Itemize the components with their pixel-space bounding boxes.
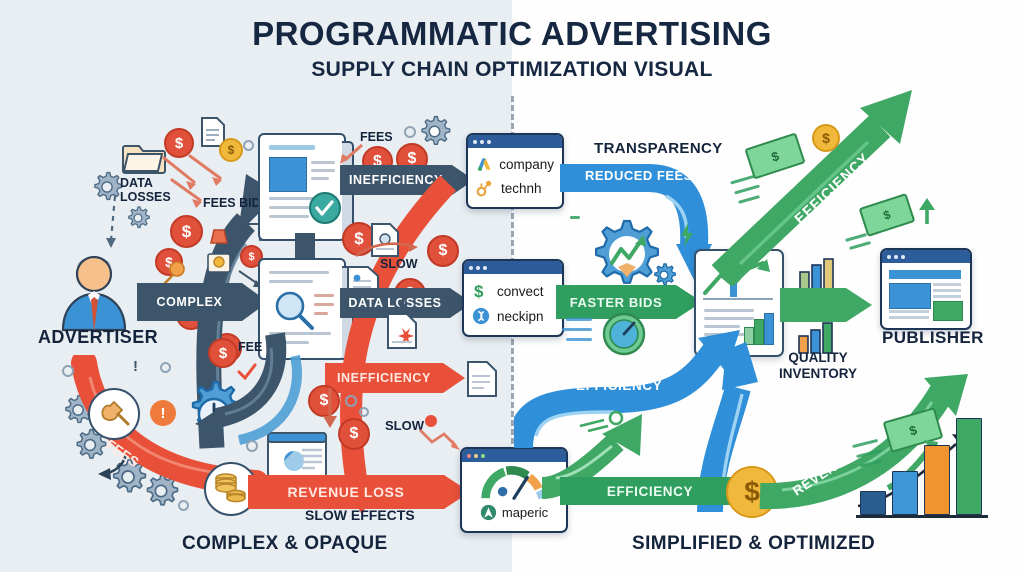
decorative-dot xyxy=(345,395,357,407)
decorative-dot xyxy=(62,365,74,377)
arrow-efficiency-bottom-label: EFFICIENCY xyxy=(607,484,693,499)
fee-coin-icon: $ xyxy=(427,235,459,267)
label-reduced-fees: REDUCED FEES xyxy=(585,168,693,183)
arrow-small-icon xyxy=(396,296,410,314)
platform-name: maperic xyxy=(502,505,548,520)
ads-logo-icon xyxy=(476,155,492,173)
window-dot xyxy=(469,266,473,270)
arrow-inefficiency-red: INEFFICIENCY xyxy=(325,363,465,393)
decorative-dot xyxy=(404,126,416,138)
decorative-dot xyxy=(246,440,258,452)
fee-coin-icon: $ xyxy=(338,418,370,450)
dot-trail-icon xyxy=(578,410,624,432)
label-slow-effects: SLOW EFFECTS xyxy=(305,507,415,523)
arrow-complex-label: COMPLEX xyxy=(156,295,222,309)
svg-text:$: $ xyxy=(474,282,484,301)
window-dot xyxy=(473,140,477,144)
infographic-canvas: PROGRAMMATIC ADVERTISING SUPPLY CHAIN OP… xyxy=(0,0,1024,572)
maperic-logo-icon xyxy=(480,504,497,521)
platform-row[interactable]: technh xyxy=(476,179,554,197)
label-publisher: PUBLISHER xyxy=(882,328,984,348)
window-titlebar xyxy=(464,261,562,274)
label-fee: FEE xyxy=(238,340,262,354)
window-dot xyxy=(474,454,478,458)
hub-logo-icon xyxy=(476,179,494,197)
arrow-inefficiency-red-label: INEFFICIENCY xyxy=(337,371,431,385)
speed-line xyxy=(566,318,592,321)
title-block: PROGRAMMATIC ADVERTISING SUPPLY CHAIN OP… xyxy=(0,16,1024,82)
bolt-icon xyxy=(678,222,696,248)
mini-up-arrow-icon xyxy=(915,196,939,226)
alert-badge: ! xyxy=(150,400,176,426)
chart-bar xyxy=(892,471,918,515)
money-bag-icon xyxy=(206,250,232,274)
decorative-dot xyxy=(160,362,171,373)
page-title: PROGRAMMATIC ADVERTISING xyxy=(0,16,1024,52)
window-dot xyxy=(467,454,471,458)
platform-name: company xyxy=(499,157,554,172)
bar-chart-icon xyxy=(798,258,840,290)
arrow-revenue-loss-label: REVENUE LOSS xyxy=(288,484,405,500)
speed-line xyxy=(566,338,592,341)
label-advertiser: ADVERTISER xyxy=(38,327,158,348)
money-symbol: $ xyxy=(769,148,781,165)
platform-name: neckipn xyxy=(497,309,544,324)
network-logo-icon xyxy=(472,307,490,325)
coins-icon xyxy=(206,464,252,510)
page-subtitle: SUPPLY CHAIN OPTIMIZATION VISUAL xyxy=(0,58,1024,82)
down-arrow-icon xyxy=(322,388,338,430)
decorative-dot xyxy=(178,500,189,511)
document-error-icon xyxy=(386,312,418,350)
auction-hand-badge xyxy=(88,388,140,440)
window-dot xyxy=(481,454,485,458)
window-dot xyxy=(483,266,487,270)
hand-icon xyxy=(90,390,134,434)
window-dot xyxy=(476,266,480,270)
gold-coin-icon: $ xyxy=(812,124,840,152)
window-dot xyxy=(480,140,484,144)
publisher-window[interactable] xyxy=(880,248,972,330)
chart-bar xyxy=(956,418,982,515)
decline-arrow-icon xyxy=(418,426,462,454)
chart-baseline xyxy=(856,515,988,518)
growth-bar-chart xyxy=(852,424,1002,524)
platform-name: technh xyxy=(501,181,542,196)
window-dot xyxy=(887,255,891,259)
speed-line xyxy=(562,328,592,331)
arrow-complex: COMPLEX xyxy=(137,283,268,321)
chart-bar xyxy=(924,445,950,515)
caption-right: SIMPLIFIED & OPTIMIZED xyxy=(632,533,875,555)
arrow-faster-bids-label: FASTER BIDS xyxy=(570,295,663,310)
alert-mark: ! xyxy=(133,358,138,375)
window-titlebar xyxy=(882,250,970,263)
speed-gauge-icon xyxy=(600,310,648,358)
arrow-to-publisher xyxy=(780,288,872,322)
platform-name: convect xyxy=(497,284,544,299)
window-titlebar xyxy=(468,135,562,148)
decorative-dot xyxy=(359,407,369,417)
money-symbol: $ xyxy=(882,207,893,222)
platform-row[interactable]: $ convect xyxy=(472,281,554,301)
platform-window-middle[interactable]: $ convect neckipn xyxy=(462,259,564,337)
platform-row[interactable]: neckipn xyxy=(472,307,554,325)
label-efficiency-blue: EFFICIENCY xyxy=(576,378,662,393)
arrow-small-icon xyxy=(352,240,422,260)
arrow-efficiency-bottom: EFFICIENCY xyxy=(560,477,740,505)
arrow-revenue-loss: REVENUE LOSS xyxy=(248,475,470,509)
dollar-logo-icon: $ xyxy=(472,281,490,301)
arrow-data-losses-label: DATA LOSSES xyxy=(348,296,441,310)
window-body: company technh xyxy=(468,148,562,204)
platform-window-top[interactable]: company technh xyxy=(466,133,564,209)
window-dot xyxy=(901,255,905,259)
advertiser-avatar-icon xyxy=(55,250,133,332)
arrow-small-icon xyxy=(232,218,260,232)
chart-bar xyxy=(860,491,886,515)
platform-row[interactable]: maperic xyxy=(480,504,548,521)
speed-line xyxy=(570,216,580,219)
money-bag-icon xyxy=(208,225,230,247)
window-body: $ convect neckipn xyxy=(464,274,562,332)
gear-icon xyxy=(417,114,452,149)
platform-row[interactable]: company xyxy=(476,155,554,173)
window-dot xyxy=(894,255,898,259)
caption-left: COMPLEX & OPAQUE xyxy=(182,533,388,555)
document-icon xyxy=(466,360,498,398)
bug-icon xyxy=(423,413,439,429)
window-dot xyxy=(487,140,491,144)
